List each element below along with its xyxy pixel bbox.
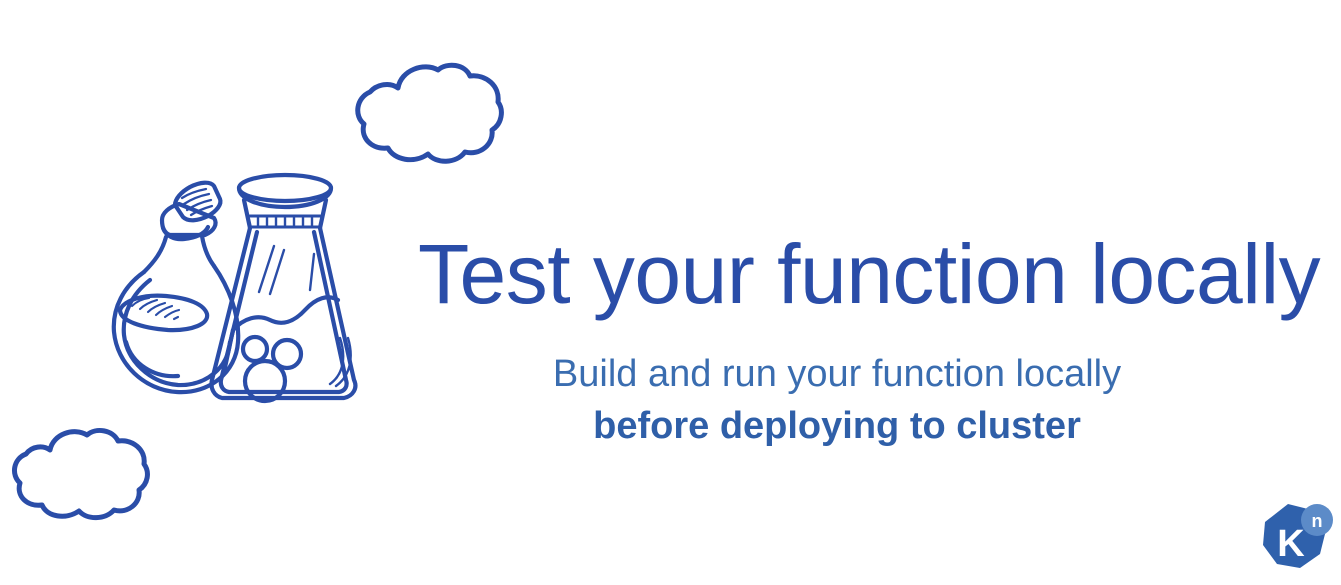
cloud-bottom-icon [6, 424, 156, 524]
knative-n-letter: n [1312, 511, 1323, 531]
lab-flasks-illustration [62, 142, 392, 422]
knative-logo: K n [1258, 500, 1334, 576]
subtitle-block: Build and run your function locally befo… [418, 348, 1256, 452]
subtitle-line-1: Build and run your function locally [418, 348, 1256, 400]
subtitle-line-2: before deploying to cluster [418, 400, 1256, 452]
page-title: Test your function locally [418, 232, 1258, 316]
slide-canvas: Test your function locally Build and run… [0, 0, 1341, 585]
knative-k-letter: K [1277, 523, 1305, 565]
